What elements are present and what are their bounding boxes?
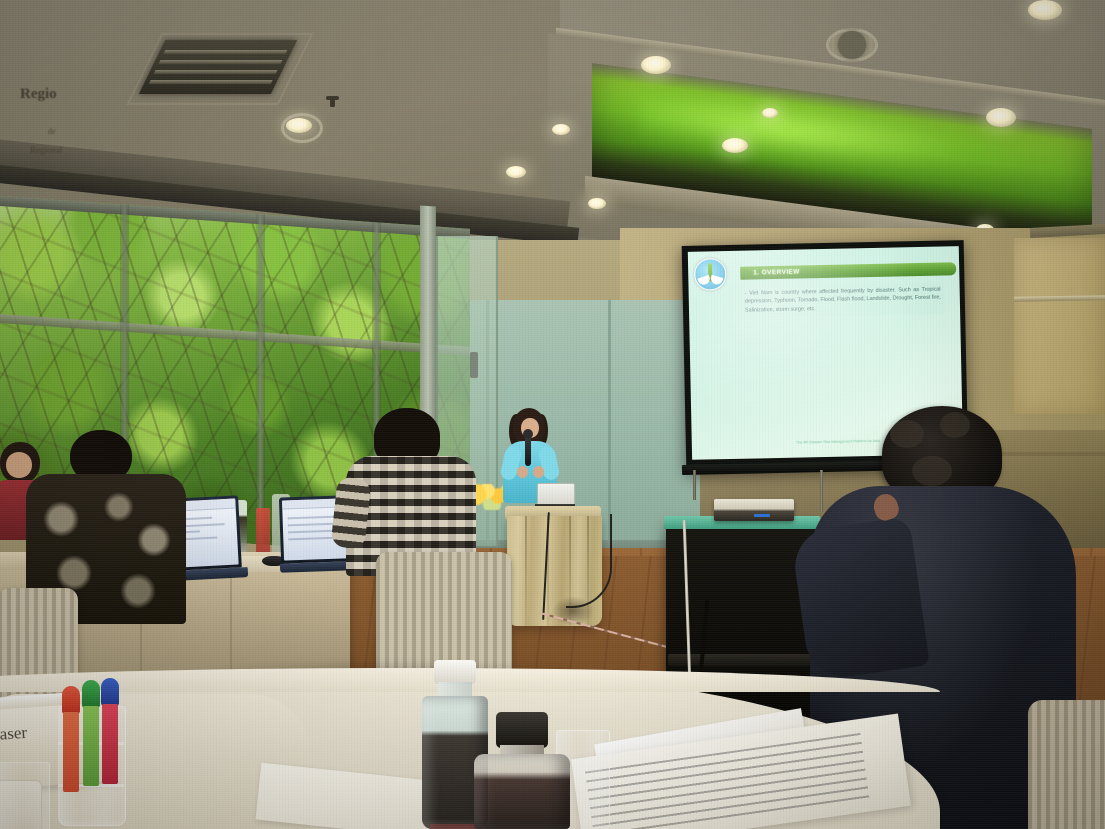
chair-foreground-right[interactable] [1028, 700, 1105, 829]
partition-seam [608, 300, 611, 550]
downlight-icon [762, 108, 778, 118]
bottle-body [474, 754, 570, 829]
presenter-left-hand [517, 466, 528, 478]
screen-stand-pole [693, 470, 696, 500]
downlight-trim-ring [281, 113, 323, 143]
downlight-icon [986, 108, 1016, 127]
bottle-cap [496, 712, 548, 748]
foreground-person-arm [790, 516, 930, 681]
green-marker[interactable] [82, 680, 100, 798]
red-marker[interactable] [62, 686, 80, 798]
sprinkler-head-icon [330, 96, 335, 107]
banner-rod [1014, 295, 1105, 302]
blue-marker[interactable] [101, 678, 119, 798]
eraser-box-label: raser [0, 723, 28, 745]
slide-body-textbox: - Viet Nam is country where affected fre… [741, 282, 946, 317]
projector-device[interactable] [714, 499, 794, 521]
downlight-icon [588, 198, 606, 209]
banner-subline: de [48, 127, 56, 136]
conference-room-photo: 1. OVERVIEW - Viet Nam is country where … [0, 0, 1105, 829]
slide-logo-icon [694, 258, 727, 291]
banner-subline2: Regional [30, 145, 63, 155]
slide-title: 1. OVERVIEW [753, 269, 800, 277]
bottle-cap [434, 660, 476, 684]
presenter-right-hand [533, 466, 544, 478]
window-mullion [256, 214, 265, 545]
water-bottle-front[interactable] [474, 712, 570, 829]
microphone-icon [525, 434, 531, 466]
downlight-icon [722, 138, 748, 153]
device-indicator-led [754, 514, 770, 517]
air-conditioning-vent-icon [139, 40, 297, 94]
downlight-icon [552, 124, 570, 135]
banner-heading: Regio [20, 86, 57, 103]
wall-banner [1014, 238, 1105, 414]
ceiling-speaker-icon [826, 28, 878, 62]
slide-body-text: - Viet Nam is country where affected fre… [745, 286, 941, 315]
downlight-icon [641, 56, 671, 74]
downlight-icon [506, 166, 526, 178]
downlight-icon [1028, 0, 1062, 20]
slide-header-bar: 1. OVERVIEW [740, 262, 956, 280]
door-handle[interactable] [470, 352, 478, 378]
drinking-glass-left[interactable] [0, 762, 50, 829]
